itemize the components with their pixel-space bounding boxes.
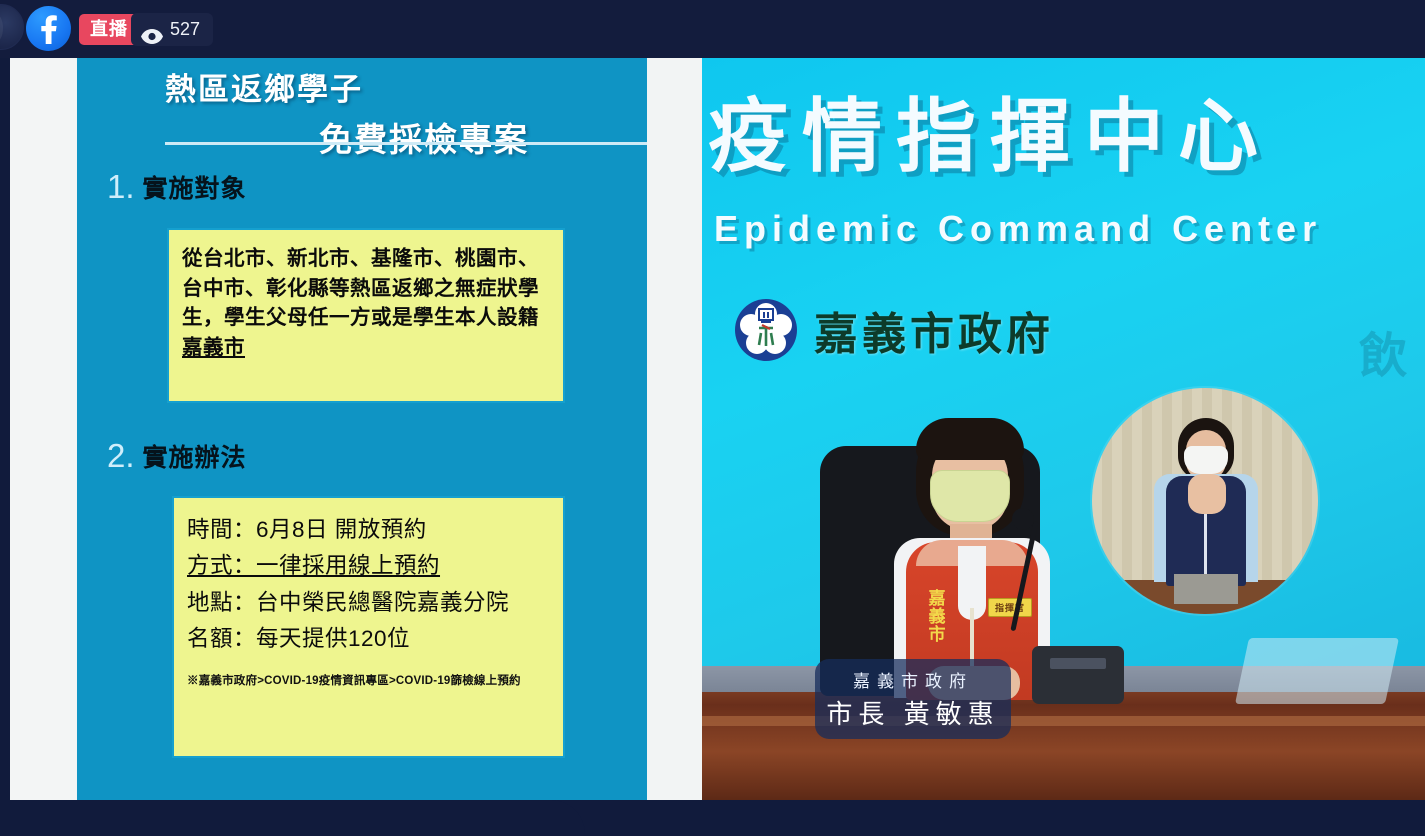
face-mask [930, 470, 1010, 522]
backdrop-secondary-text: 飲 [1359, 316, 1411, 386]
slide-title-line1: 熱區返鄉學子 [165, 64, 647, 109]
avatar[interactable] [0, 4, 24, 50]
microphone-icon [1012, 508, 1034, 530]
facebook-logo-icon[interactable] [26, 6, 71, 51]
box2-footnote: ※嘉義市政府>COVID-19疫情資訊專區>COVID-19篩檢線上預約 [187, 672, 550, 688]
box2-line-2: 方式：一律採用線上預約 [187, 548, 550, 584]
panel-divider [647, 58, 702, 800]
speaker-fringe [916, 418, 1024, 460]
box1-line-4: 嘉義市 [182, 333, 550, 363]
backdrop-subtitle: Epidemic Command Center [714, 208, 1322, 250]
box1-line-2: 台中市、彰化縣等熱區返鄉之無症狀學 [182, 274, 550, 304]
title-divider [165, 142, 647, 145]
section-2-label: 實施辦法 [143, 445, 247, 473]
box2-line-3: 地點：台中榮民總醫院嘉義分院 [187, 585, 550, 621]
slide-left-margin [10, 58, 76, 800]
slide-content: 熱區返鄉學子 免費採檢專案 1. 實施對象 從台北市、新北市、基隆市、桃園市、 … [77, 58, 647, 800]
section-1-label: 實施對象 [143, 176, 247, 204]
nameplate-organization: 嘉義市政府 [853, 667, 973, 692]
livestream-screen: 直播 527 熱區返鄉學子 免費採檢專案 [0, 0, 1425, 836]
vest-text: 嘉義市 [924, 590, 950, 644]
slide-title-line2: 免費採檢專案 [319, 113, 647, 161]
desk-edge [702, 716, 1425, 726]
section-1-highlight-box: 從台北市、新北市、基隆市、桃園市、 台中市、彰化縣等熱區返鄉之無症狀學 生，學生… [167, 228, 565, 403]
caption-bar: 110/06/05 嘉義市疫情指揮中心 [0, 800, 585, 836]
speaker-nameplate: 嘉義市政府 市長 黃敏惠 [815, 659, 1011, 739]
vest-badge: 指揮官 [988, 598, 1032, 617]
box1-line-1: 從台北市、新北市、基隆市、桃園市、 [182, 244, 550, 274]
box2-line-1: 時間：6月8日 開放預約 [187, 512, 550, 548]
nameplate-name: 市長 黃敏惠 [826, 694, 999, 731]
viewer-count-badge: 527 [131, 13, 213, 46]
interpreter-face-mask [1184, 446, 1228, 474]
presentation-slide-panel: 熱區返鄉學子 免費採檢專案 1. 實施對象 從台北市、新北市、基隆市、桃園市、 … [10, 58, 647, 800]
interpreter-trousers [1174, 574, 1238, 604]
backdrop-title: 疫情指揮中心 [708, 72, 1425, 188]
government-logo-text: 嘉義市政府 [814, 298, 1054, 362]
section-2-number: 2. [107, 439, 135, 472]
live-badge: 直播 [79, 14, 139, 45]
live-status-bar: 直播 527 [0, 0, 1425, 58]
left-letterbox [0, 58, 10, 836]
press-conference-video: 疫情指揮中心 Epidemic Command Center [702, 58, 1425, 800]
slide-title: 熱區返鄉學子 免費採檢專案 [77, 64, 647, 161]
viewer-count-value: 527 [170, 13, 200, 46]
desk-device [1032, 646, 1124, 704]
government-logo: 嘉義市政府 [734, 298, 1054, 362]
box2-line-4: 名額：每天提供120位 [187, 621, 550, 657]
slide-section-2-heading: 2. 實施辦法 [107, 439, 247, 472]
desk-papers [1235, 638, 1399, 704]
section-2-highlight-box: 時間：6月8日 開放預約 方式：一律採用線上預約 地點：台中榮民總醫院嘉義分院 … [172, 496, 565, 758]
slide-section-1-heading: 1. 實施對象 [107, 170, 247, 203]
conference-desk [702, 692, 1425, 800]
box1-line-3: 生，學生父母任一方或是學生本人設籍 [182, 303, 550, 333]
chiayi-city-government-emblem-icon [734, 298, 798, 362]
eye-icon [141, 22, 163, 37]
interpreter-hands [1188, 474, 1226, 514]
sign-language-interpreter-inset [1092, 388, 1318, 614]
stream-canvas: 熱區返鄉學子 免費採檢專案 1. 實施對象 從台北市、新北市、基隆市、桃園市、 … [0, 58, 1425, 836]
section-1-number: 1. [107, 170, 135, 203]
